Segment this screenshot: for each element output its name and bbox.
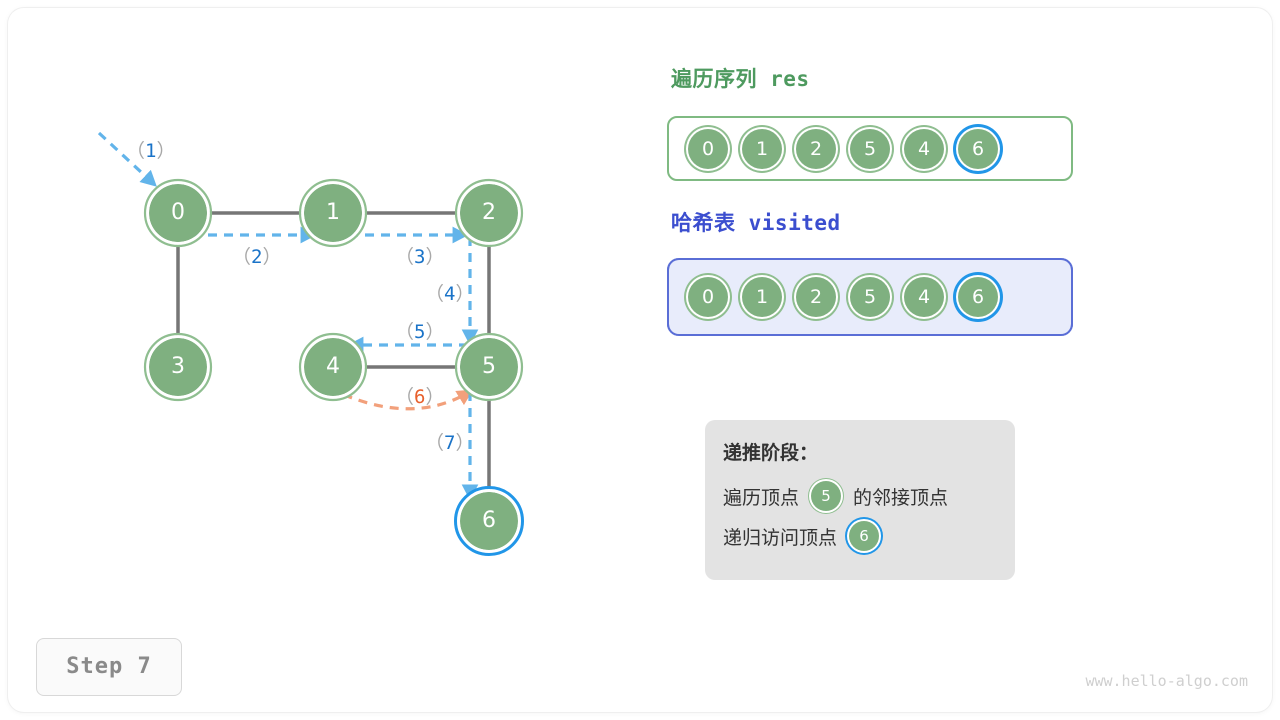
visited-cell[interactable]: 0 (685, 274, 731, 320)
res-cell[interactable]: 1 (739, 126, 785, 172)
graph-node-6[interactable] (456, 488, 523, 555)
res-cell-value: 1 (742, 129, 782, 169)
res-cell-value: 5 (850, 129, 890, 169)
phase-line-1-suffix: 的邻接顶点 (853, 483, 948, 510)
step-indicator: Step 7 (36, 638, 182, 696)
site-watermark: www.hello-algo.com (1085, 672, 1248, 690)
graph-node-5[interactable] (456, 334, 522, 400)
traversal-arrows (99, 133, 471, 498)
graph-node-2[interactable] (456, 180, 522, 246)
graph-node-1[interactable] (300, 180, 366, 246)
res-cell[interactable]: 2 (793, 126, 839, 172)
visited-cell[interactable]: 4 (901, 274, 947, 320)
phase-line-1-prefix: 遍历顶点 (723, 483, 799, 510)
visited-cell-value: 1 (742, 277, 782, 317)
visited-cell-highlighted[interactable]: 6 (955, 274, 1001, 320)
res-cell-value: 6 (958, 129, 998, 169)
res-cell[interactable]: 5 (847, 126, 893, 172)
res-cell[interactable]: 4 (901, 126, 947, 172)
visited-cell[interactable]: 5 (847, 274, 893, 320)
visited-cell-value: 6 (958, 277, 998, 317)
phase-line-1-node: 5 (811, 481, 841, 511)
traversal-label-5: （5） (395, 317, 444, 344)
traversal-label-6: （6） (395, 382, 444, 409)
phase-info-card: 递推阶段： 遍历顶点 5 的邻接顶点 递归访问顶点 6 (705, 420, 1015, 580)
traversal-label-4: （4） (425, 279, 474, 306)
res-array-box: 0 1 2 5 4 6 (667, 116, 1073, 181)
graph-node-3[interactable] (145, 334, 211, 400)
res-array-title: 遍历序列 res (671, 63, 810, 93)
visited-cell-value: 4 (904, 277, 944, 317)
res-cell-value: 0 (688, 129, 728, 169)
visited-table-box: 0 1 2 5 4 6 (667, 258, 1073, 336)
res-cell[interactable]: 0 (685, 126, 731, 172)
traversal-label-1: （1） (126, 136, 175, 163)
phase-line-2-node: 6 (849, 521, 879, 551)
res-cell-value: 2 (796, 129, 836, 169)
phase-line-1: 遍历顶点 5 的邻接顶点 (723, 481, 1015, 511)
visited-table-title: 哈希表 visited (671, 207, 841, 237)
phase-heading: 递推阶段： (723, 438, 1015, 465)
traversal-label-3: （3） (395, 242, 444, 269)
graph-node-0[interactable] (145, 180, 211, 246)
visited-cell[interactable]: 1 (739, 274, 785, 320)
traversal-label-2: （2） (232, 242, 281, 269)
diagram-canvas: 0 1 2 3 4 5 6 （1） （2） （3） （4） （5） （6） （7… (0, 0, 1280, 720)
phase-line-2: 递归访问顶点 6 (723, 521, 1015, 551)
graph-svg (0, 0, 1280, 720)
graph-nodes (145, 180, 523, 555)
visited-cell-value: 2 (796, 277, 836, 317)
visited-cell-value: 0 (688, 277, 728, 317)
visited-cell[interactable]: 2 (793, 274, 839, 320)
res-cell-highlighted[interactable]: 6 (955, 126, 1001, 172)
res-cell-value: 4 (904, 129, 944, 169)
graph-node-4[interactable] (300, 334, 366, 400)
visited-cell-value: 5 (850, 277, 890, 317)
phase-line-2-prefix: 递归访问顶点 (723, 523, 837, 550)
traversal-label-7: （7） (425, 428, 474, 455)
